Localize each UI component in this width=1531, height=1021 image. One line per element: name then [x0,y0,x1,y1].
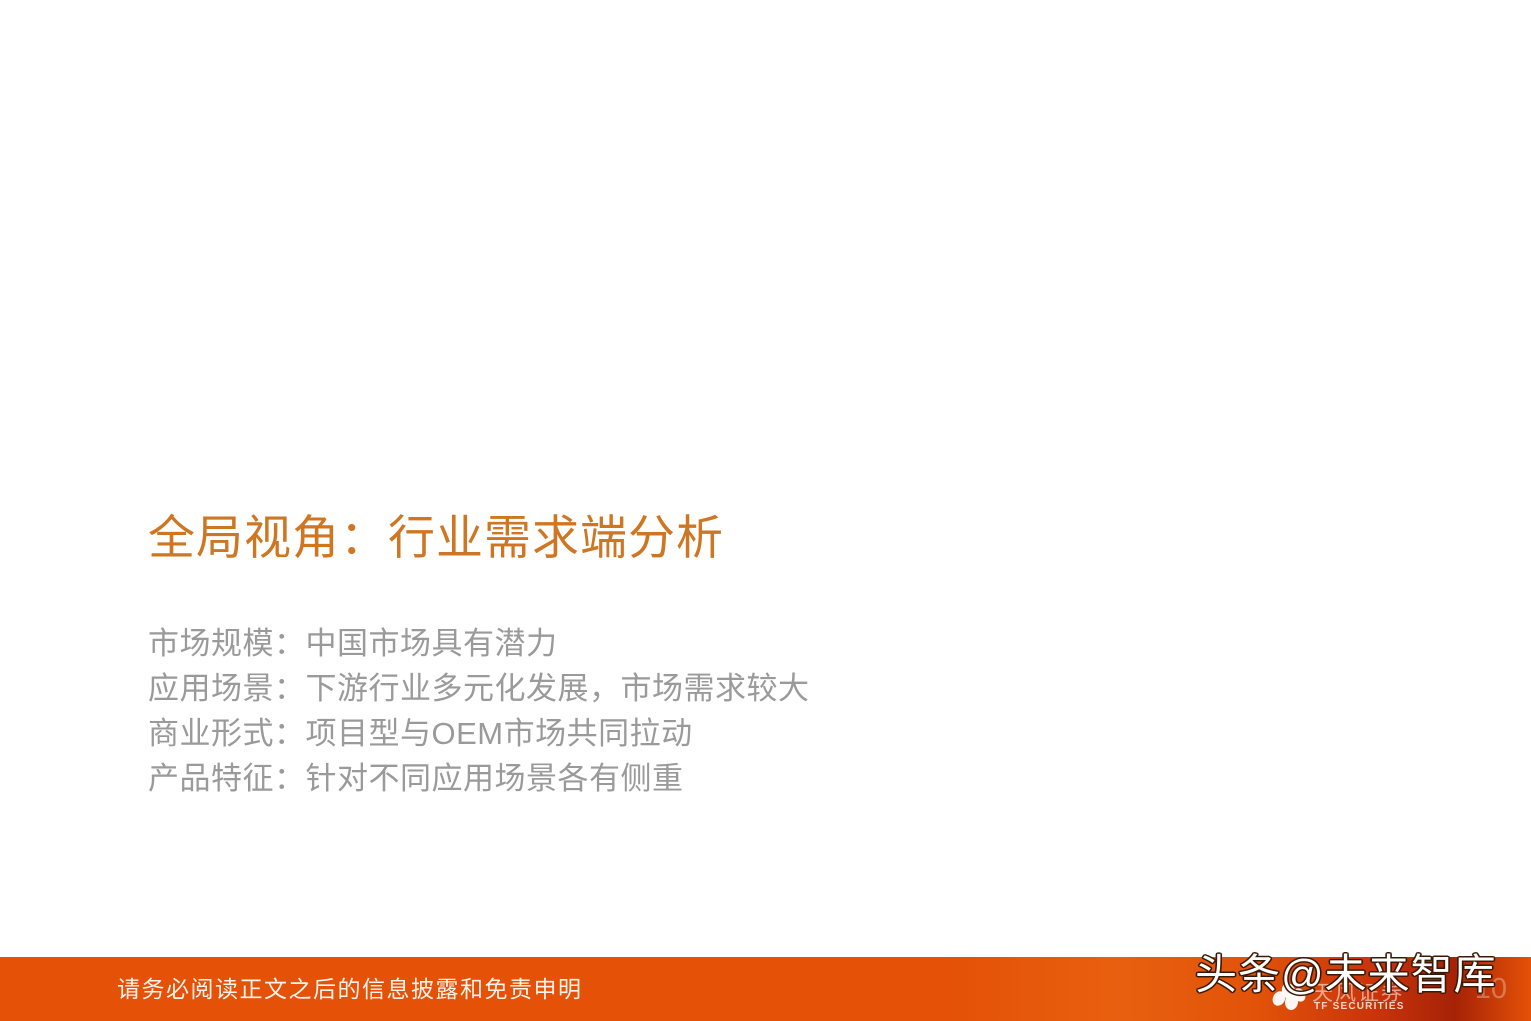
page-number: 10 [1475,957,1507,1021]
brand-logo: 天风证券 TF SECURITIES [1272,969,1472,1015]
page-title: 全局视角：行业需求端分析 [148,508,1348,568]
footer-disclaimer: 请务必阅读正文之后的信息披露和免责申明 [117,957,583,1021]
presentation-slide: 全局视角：行业需求端分析 市场规模：中国市场具有潜力 应用场景：下游行业多元化发… [0,0,1531,1021]
slide-content: 全局视角：行业需求端分析 市场规模：中国市场具有潜力 应用场景：下游行业多元化发… [148,508,1348,801]
flower-petal-icon [1272,983,1306,1011]
list-item: 产品特征：针对不同应用场景各有侧重 [148,756,1348,801]
list-item: 应用场景：下游行业多元化发展，市场需求较大 [148,666,1348,711]
list-item: 市场规模：中国市场具有潜力 [148,621,1348,666]
list-item: 商业形式：项目型与OEM市场共同拉动 [148,711,1348,756]
brand-name-en: TF SECURITIES [1314,1001,1405,1012]
footer-bar: 请务必阅读正文之后的信息披露和免责申明 天风证券 TF SECURITIES 1… [0,957,1531,1021]
bullet-list: 市场规模：中国市场具有潜力 应用场景：下游行业多元化发展，市场需求较大 商业形式… [148,621,1348,801]
